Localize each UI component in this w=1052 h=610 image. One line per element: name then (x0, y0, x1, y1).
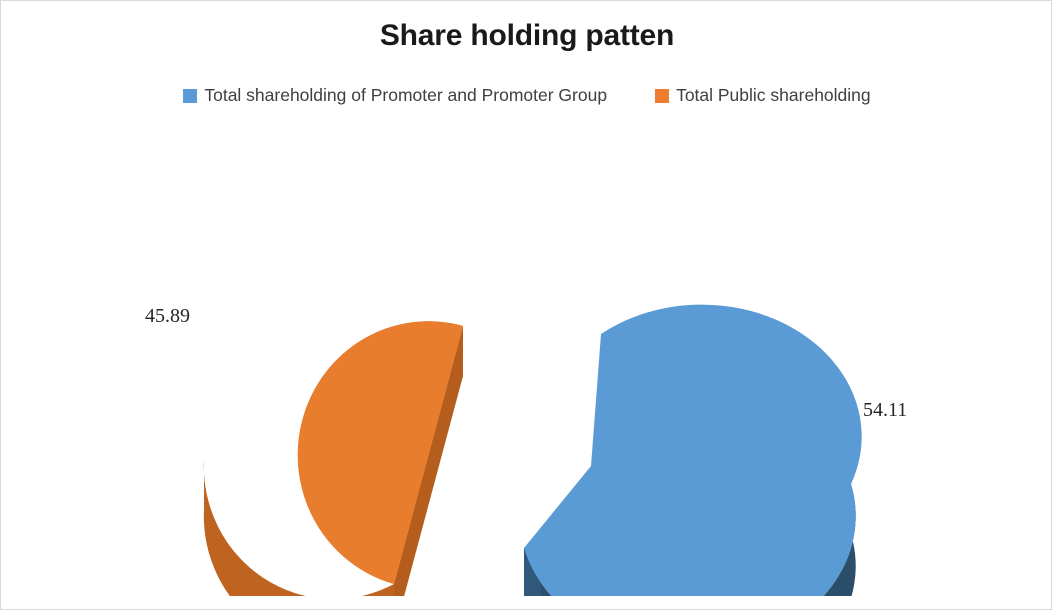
legend-item-public[interactable]: Total Public shareholding (655, 85, 871, 106)
chart-container: Share holding patten Total shareholding … (0, 0, 1052, 610)
pie-chart-svg: 45.89 54.11 (1, 126, 1052, 596)
data-label-promoter: 54.11 (863, 399, 907, 421)
legend-square-icon (183, 89, 197, 103)
chart-legend: Total shareholding of Promoter and Promo… (1, 85, 1052, 106)
legend-item-label: Total Public shareholding (676, 85, 871, 106)
pie-plot-area: 45.89 54.11 (1, 126, 1052, 596)
legend-item-label: Total shareholding of Promoter and Promo… (204, 85, 607, 106)
legend-item-promoter[interactable]: Total shareholding of Promoter and Promo… (183, 85, 607, 106)
chart-title: Share holding patten (1, 19, 1052, 53)
pie-slice-promoter-top (524, 305, 862, 596)
pie-slice-public[interactable] (204, 321, 463, 596)
data-label-public: 45.89 (145, 305, 190, 327)
pie-slice-promoter[interactable] (524, 305, 862, 596)
legend-square-icon (655, 89, 669, 103)
